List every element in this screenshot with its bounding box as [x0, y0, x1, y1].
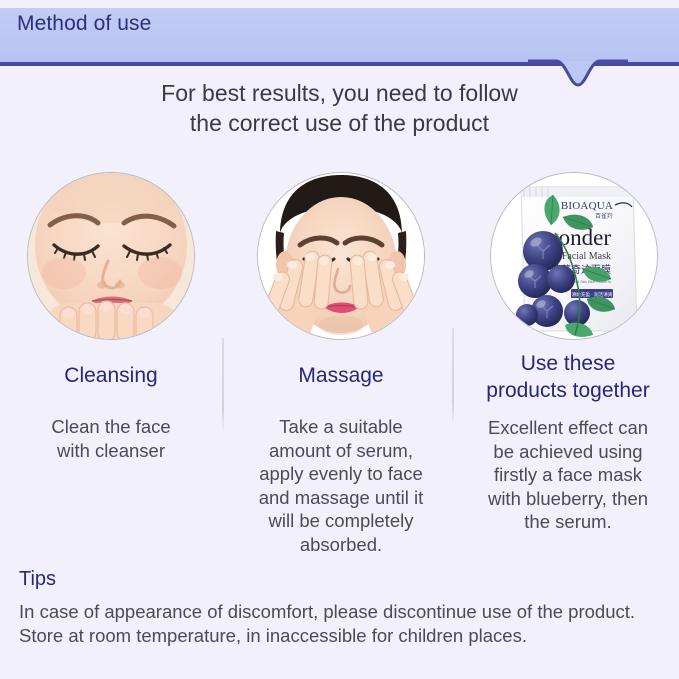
step-column-massage: Massage Take a suitable amount of serum,… [236, 362, 446, 556]
intro-heading: For best results, you need to follow the… [0, 78, 679, 138]
tips-title: Tips [19, 566, 669, 592]
blueberry-facial-mask-package-photo: BIOAQUA 百雀羚 wonder Facial Mask 蓝莓奇迹面膜 Be… [490, 172, 658, 340]
step-images-row: BIOAQUA 百雀羚 wonder Facial Mask 蓝莓奇迹面膜 Be… [0, 172, 679, 342]
step-title-cleansing: Cleansing [6, 362, 216, 389]
step-column-cleansing: Cleansing Clean the face with cleanser [6, 362, 216, 462]
step-title-use-together: Use these products together [462, 350, 674, 404]
woman-cleansing-face-photo [27, 172, 195, 340]
intro-heading-line-2: the correct use of the product [0, 108, 679, 138]
intro-heading-line-1: For best results, you need to follow [0, 78, 679, 108]
page-title: Method of use [17, 12, 151, 36]
tips-section: Tips In case of appearance of discomfort… [19, 566, 669, 647]
step-body-use-together: Excellent effect can be achieved using f… [462, 416, 674, 534]
svg-text:滑嫩充盈 · 润活清爽: 滑嫩充盈 · 润活清爽 [572, 291, 613, 298]
woman-massaging-face-photo [257, 172, 425, 340]
column-divider-1 [222, 338, 224, 434]
step-column-use-together: Use these products together Excellent ef… [462, 350, 674, 534]
step-body-massage: Take a suitable amount of serum, apply e… [236, 415, 446, 556]
step-title-massage: Massage [236, 362, 446, 389]
tips-body: In case of appearance of discomfort, ple… [19, 600, 669, 647]
svg-text:BIOAQUA: BIOAQUA [561, 200, 613, 212]
step-body-cleansing: Clean the face with cleanser [6, 415, 216, 462]
column-divider-2 [452, 328, 454, 428]
svg-text:百雀羚: 百雀羚 [595, 212, 613, 220]
